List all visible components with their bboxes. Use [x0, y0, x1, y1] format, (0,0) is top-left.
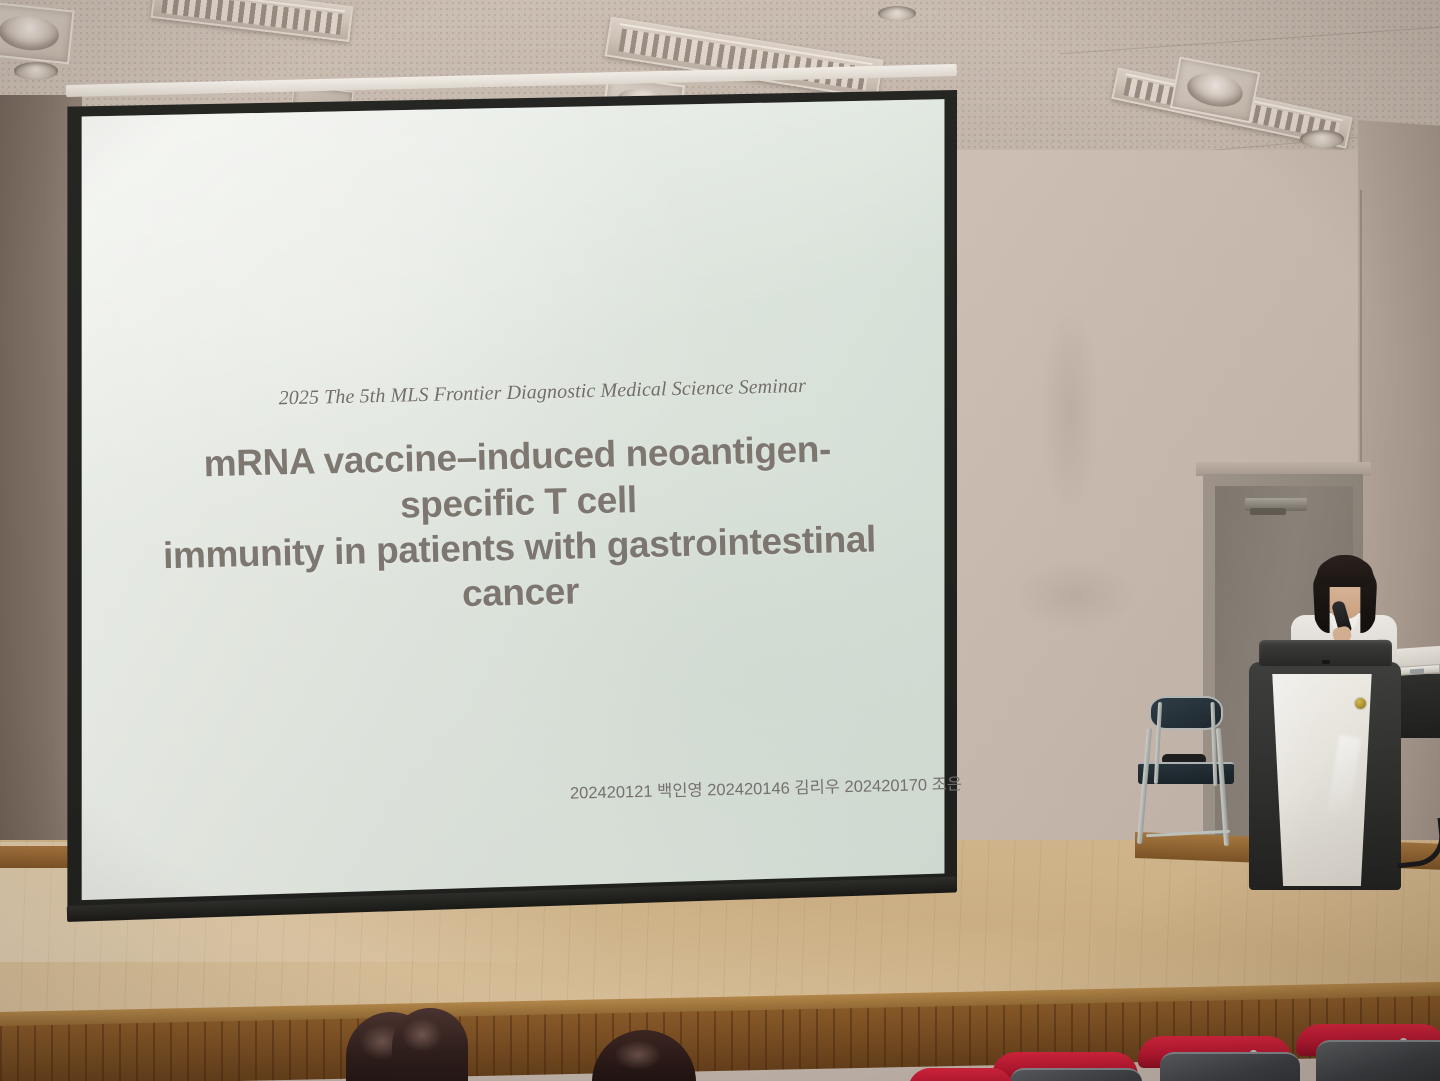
slide-title-line-2: immunity in patients with gastrointestin… — [161, 516, 879, 623]
projection-screen: 2025 The 5th MLS Frontier Diagnostic Med… — [62, 90, 957, 920]
podium-slot — [1322, 660, 1330, 664]
podium — [1249, 640, 1401, 890]
auditorium-seat — [1138, 1028, 1298, 1081]
slide-subtitle: 2025 The 5th MLS Frontier Diagnostic Med… — [278, 375, 806, 410]
auditorium-seat — [908, 1058, 1018, 1081]
wall-mark — [1040, 300, 1100, 520]
chair-leg — [1216, 728, 1229, 846]
auditorium-seat — [1296, 1018, 1440, 1081]
slide-title: mRNA vaccine–induced neoantigen-specific… — [159, 426, 879, 623]
lecture-hall-photo: 2025 The 5th MLS Frontier Diagnostic Med… — [0, 0, 1440, 1081]
slide-content: 2025 The 5th MLS Frontier Diagnostic Med… — [52, 80, 966, 931]
wall-mark — [1015, 560, 1135, 630]
folding-chair[interactable] — [1132, 692, 1240, 850]
chair-crossbar — [1146, 830, 1230, 837]
recessed-downlight — [14, 62, 58, 80]
chair-leg — [1137, 728, 1152, 844]
audience-head — [392, 1008, 468, 1081]
presenter-bangs — [1317, 557, 1373, 587]
door-closer-arm — [1250, 508, 1286, 515]
podium-top — [1259, 640, 1392, 666]
air-diffuser — [0, 2, 75, 65]
podium-emblem-icon — [1355, 698, 1366, 709]
slide-title-line-1: mRNA vaccine–induced neoantigen-specific… — [159, 426, 877, 533]
table-label — [1410, 669, 1424, 675]
slide-authors: 202420121 백인영 202420146 김리우 202420170 조은 — [570, 770, 963, 803]
recessed-downlight — [878, 6, 916, 21]
recessed-downlight — [1300, 130, 1344, 148]
